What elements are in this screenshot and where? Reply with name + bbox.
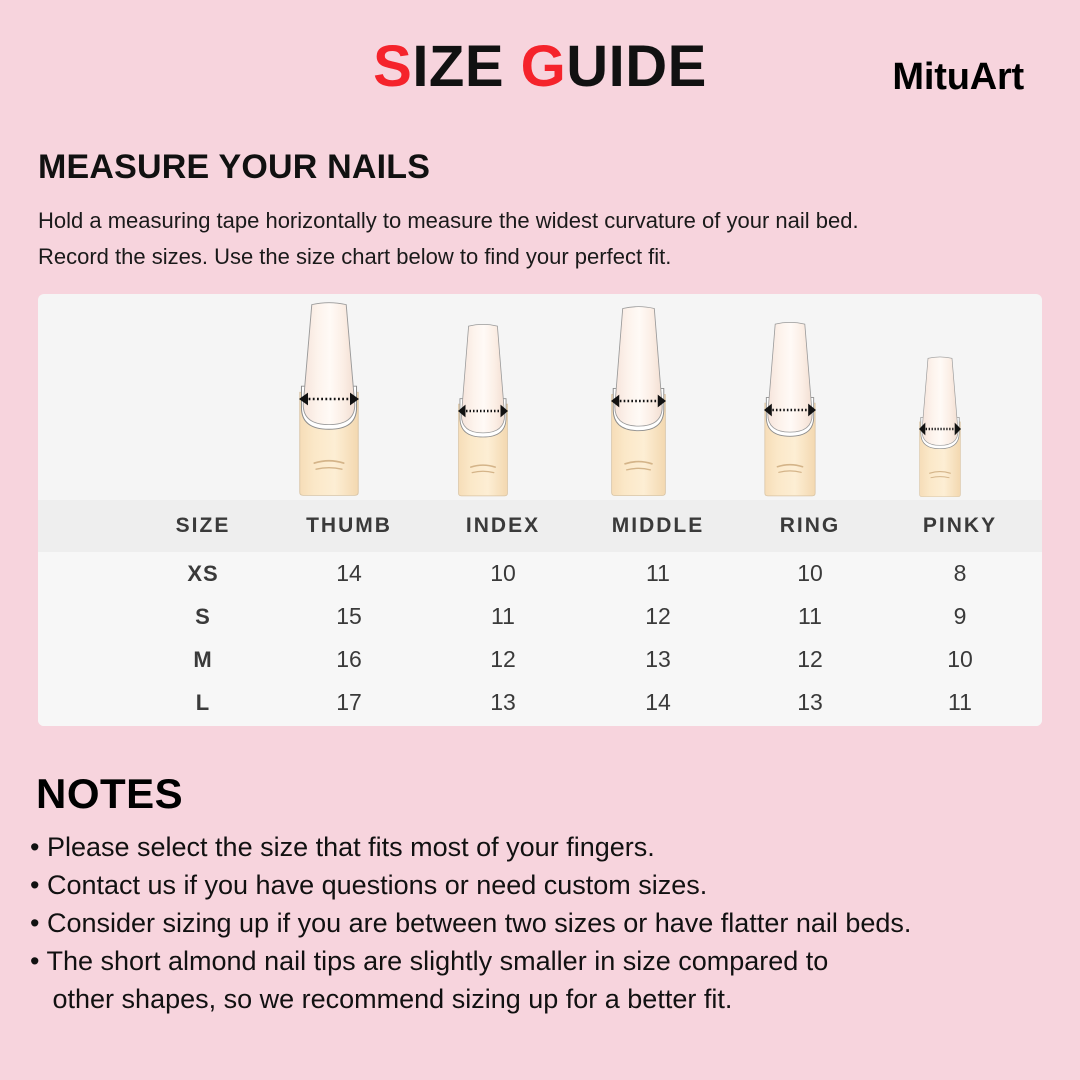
column-header-ring: RING	[752, 500, 868, 552]
measure-instruction-line-1: Hold a measuring tape horizontally to me…	[38, 203, 1038, 239]
measure-heading: MEASURE YOUR NAILS	[38, 148, 430, 187]
nail-illustration-thumb	[286, 300, 372, 500]
measure-arrow-middle	[611, 393, 666, 409]
measure-arrow-ring	[764, 402, 816, 418]
table-row: S151112119	[38, 595, 1042, 638]
brand-logo: MituArt	[892, 56, 1024, 99]
measure-arrow-index	[458, 403, 508, 419]
size-label-xs: XS	[145, 552, 261, 595]
notes-list: • Please select the size that fits most …	[30, 828, 1070, 1018]
notes-heading: NOTES	[36, 770, 183, 818]
measure-arrow-pinky	[919, 421, 961, 437]
title-part-0: S	[373, 34, 412, 99]
table-header-row: SIZETHUMBINDEXMIDDLERINGPINKY	[38, 500, 1042, 552]
cell-value: 11	[445, 595, 561, 638]
title-part-2: G	[521, 34, 567, 99]
table-body: XS141011108S151112119M1612131210L1713141…	[38, 552, 1042, 726]
cell-value: 10	[902, 638, 1018, 681]
cell-value: 15	[291, 595, 407, 638]
column-header-size: SIZE	[145, 500, 261, 552]
cell-value: 8	[902, 552, 1018, 595]
cell-value: 13	[600, 638, 716, 681]
table-row: M1612131210	[38, 638, 1042, 681]
cell-value: 9	[902, 595, 1018, 638]
note-item: • Consider sizing up if you are between …	[30, 904, 1070, 942]
column-header-pinky: PINKY	[902, 500, 1018, 552]
title-part-3: UIDE	[566, 34, 707, 99]
cell-value: 11	[600, 552, 716, 595]
table-row: XS141011108	[38, 552, 1042, 595]
cell-value: 12	[445, 638, 561, 681]
column-header-index: INDEX	[445, 500, 561, 552]
size-label-m: M	[145, 638, 261, 681]
cell-value: 12	[752, 638, 868, 681]
cell-value: 14	[600, 681, 716, 724]
cell-value: 16	[291, 638, 407, 681]
cell-value: 10	[445, 552, 561, 595]
cell-value: 10	[752, 552, 868, 595]
page-header: SIZE GUIDE MituArt	[0, 0, 1080, 125]
column-header-thumb: THUMB	[291, 500, 407, 552]
size-label-l: L	[145, 681, 261, 724]
nail-illustration-ring	[753, 320, 827, 500]
cell-value: 11	[902, 681, 1018, 724]
note-item: • Contact us if you have questions or ne…	[30, 866, 1070, 904]
cell-value: 17	[291, 681, 407, 724]
cell-value: 13	[752, 681, 868, 724]
cell-value: 14	[291, 552, 407, 595]
table-row: L1713141311	[38, 681, 1042, 724]
size-chart-panel: SIZETHUMBINDEXMIDDLERINGPINKY XS14101110…	[38, 294, 1042, 726]
measure-arrow-thumb	[299, 391, 359, 407]
nail-illustration-row	[38, 294, 1042, 500]
cell-value: 11	[752, 595, 868, 638]
nail-illustration-middle	[599, 304, 678, 500]
title-part-1: IZE	[412, 34, 520, 99]
nail-illustration-pinky	[910, 355, 970, 500]
note-item: • Please select the size that fits most …	[30, 828, 1070, 866]
note-item: other shapes, so we recommend sizing up …	[30, 980, 1070, 1018]
note-item: • The short almond nail tips are slightl…	[30, 942, 1070, 980]
cell-value: 12	[600, 595, 716, 638]
column-header-middle: MIDDLE	[600, 500, 716, 552]
cell-value: 13	[445, 681, 561, 724]
measure-instructions: Hold a measuring tape horizontally to me…	[38, 203, 1038, 275]
size-label-s: S	[145, 595, 261, 638]
measure-instruction-line-2: Record the sizes. Use the size chart bel…	[38, 239, 1038, 275]
nail-illustration-index	[447, 322, 519, 500]
